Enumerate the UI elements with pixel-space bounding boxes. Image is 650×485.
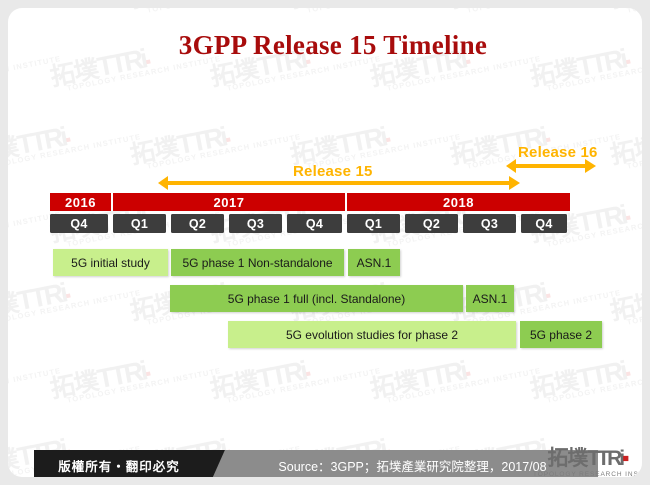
watermark-mark: 拓墣TTRi▪TOPOLOGY RESEARCH INSTITUTE bbox=[448, 8, 622, 17]
task-bar: 5G phase 2 bbox=[520, 321, 602, 348]
year-cell: 2017 bbox=[113, 193, 345, 211]
watermark-mark: 拓墣TTRi▪TOPOLOGY RESEARCH INSTITUTE bbox=[288, 8, 462, 17]
logo-subtitle: TOPOLOGY RESEARCH INSTITUTE bbox=[533, 471, 642, 477]
page-title: 3GPP Release 15 Timeline bbox=[8, 30, 642, 61]
quarter-cell: Q1 bbox=[113, 214, 166, 233]
quarter-cell: Q1 bbox=[347, 214, 400, 233]
watermark-mark: 拓墣TTRi▪TOPOLOGY RESEARCH INSTITUTE bbox=[8, 343, 62, 407]
quarter-cell: Q2 bbox=[405, 214, 458, 233]
quarter-cell: Q4 bbox=[287, 214, 342, 233]
quarter-cell: Q4 bbox=[50, 214, 108, 233]
watermark-mark: 拓墣TTRi▪TOPOLOGY RESEARCH INSTITUTE bbox=[8, 109, 142, 173]
task-bar: 5G initial study bbox=[53, 249, 168, 276]
quarter-cell: Q2 bbox=[171, 214, 224, 233]
watermark-mark: 拓墣TTRi▪TOPOLOGY RESEARCH INSTITUTE bbox=[608, 265, 642, 329]
task-bar: 5G evolution studies for phase 2 bbox=[228, 321, 516, 348]
year-cell: 2016 bbox=[50, 193, 111, 211]
slide-card: 拓墣TTRi▪TOPOLOGY RESEARCH INSTITUTE拓墣TTRi… bbox=[8, 8, 642, 477]
logo-tri: TTRi bbox=[587, 447, 622, 470]
watermark-mark: 拓墣TTRi▪TOPOLOGY RESEARCH INSTITUTE bbox=[608, 8, 642, 17]
slide-canvas: 拓墣TTRi▪TOPOLOGY RESEARCH INSTITUTE拓墣TTRi… bbox=[0, 0, 650, 485]
task-bar: ASN.1 bbox=[466, 285, 514, 312]
watermark-mark: 拓墣TTRi▪TOPOLOGY RESEARCH INSTITUTE bbox=[608, 109, 642, 173]
release-arrow-1-icon bbox=[158, 176, 520, 190]
release-arrow-2-icon bbox=[506, 159, 596, 173]
year-cell: 2018 bbox=[347, 193, 570, 211]
task-bar: 5G phase 1 Non-standalone bbox=[171, 249, 344, 276]
tri-logo: 拓墣TTRi▪ TOPOLOGY RESEARCH INSTITUTE bbox=[533, 448, 642, 477]
watermark-mark: 拓墣TTRi▪TOPOLOGY RESEARCH INSTITUTE bbox=[8, 8, 142, 17]
logo-cjk: 拓墣 bbox=[547, 447, 587, 470]
logo-wordmark: 拓墣TTRi▪ bbox=[533, 448, 642, 470]
watermark-mark: 拓墣TTRi▪TOPOLOGY RESEARCH INSTITUTE bbox=[368, 343, 542, 407]
quarter-cell: Q4 bbox=[521, 214, 567, 233]
watermark-pattern: 拓墣TTRi▪TOPOLOGY RESEARCH INSTITUTE拓墣TTRi… bbox=[8, 8, 642, 477]
footer-copyright: 版權所有・翻印必究 bbox=[34, 450, 204, 477]
quarter-cell: Q3 bbox=[463, 214, 516, 233]
quarter-cell: Q3 bbox=[229, 214, 282, 233]
watermark-mark: 拓墣TTRi▪TOPOLOGY RESEARCH INSTITUTE bbox=[48, 343, 222, 407]
logo-red-dot-icon: ▪ bbox=[622, 447, 628, 470]
task-bar: 5G phase 1 full (incl. Standalone) bbox=[170, 285, 463, 312]
watermark-mark: 拓墣TTRi▪TOPOLOGY RESEARCH INSTITUTE bbox=[128, 8, 302, 17]
watermark-mark: 拓墣TTRi▪TOPOLOGY RESEARCH INSTITUTE bbox=[208, 343, 382, 407]
task-bar: ASN.1 bbox=[348, 249, 400, 276]
watermark-mark: 拓墣TTRi▪TOPOLOGY RESEARCH INSTITUTE bbox=[128, 109, 302, 173]
watermark-mark: 拓墣TTRi▪TOPOLOGY RESEARCH INSTITUTE bbox=[528, 343, 642, 407]
